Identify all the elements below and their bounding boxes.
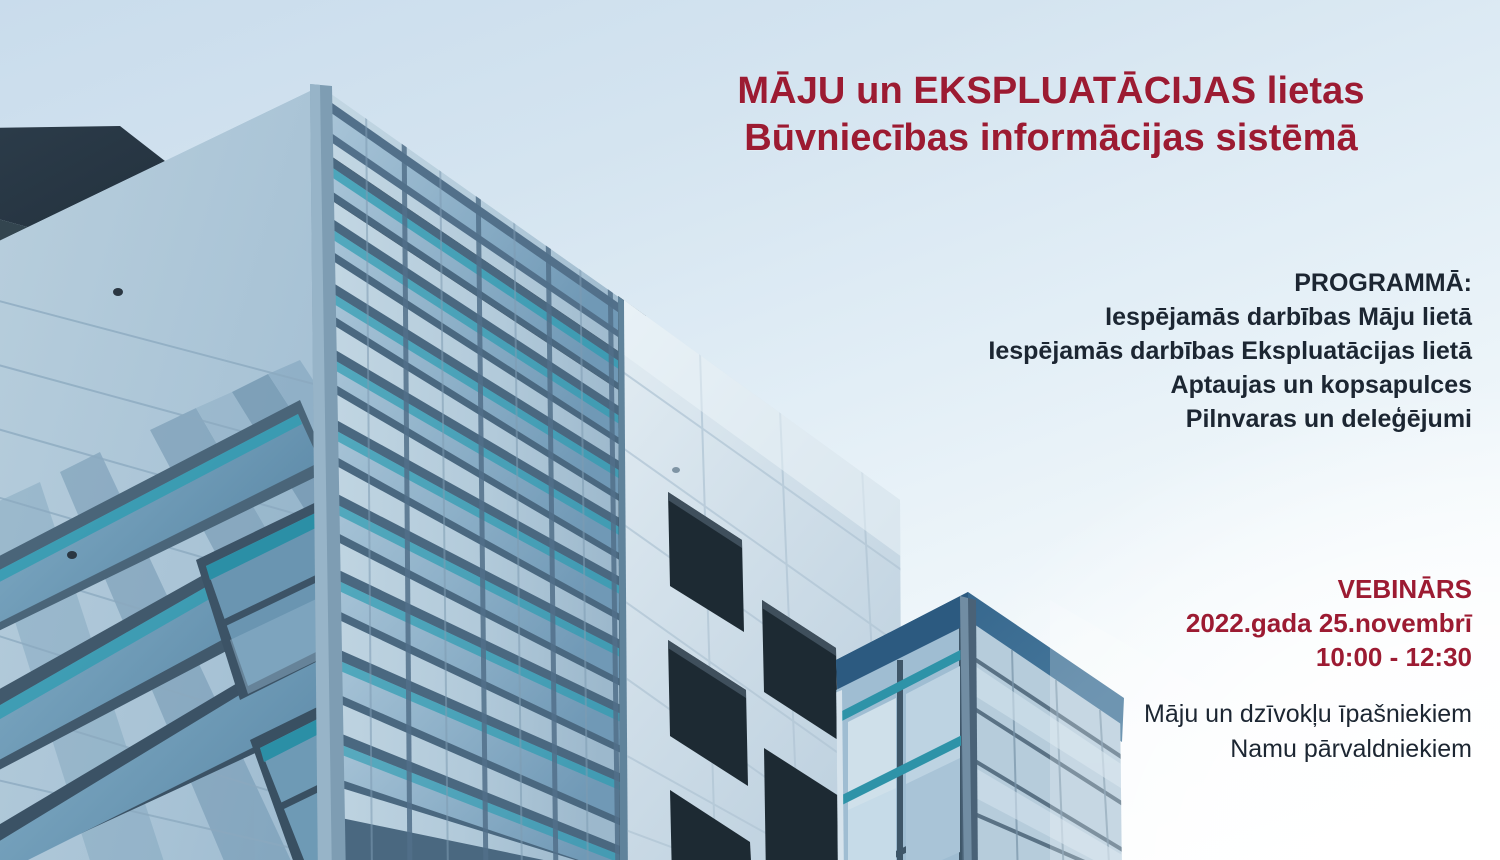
audience-line-1: Māju un dzīvokļu īpašniekiem <box>1144 697 1472 732</box>
title-line-2: Būvniecības informācijas sistēmā <box>620 115 1482 162</box>
program-heading: PROGRAMMĀ: <box>988 266 1472 300</box>
program-item-3: Aptaujas un kopsapulces <box>988 368 1472 402</box>
title-line-1: MĀJU un EKSPLUATĀCIJAS lietas <box>620 68 1482 115</box>
audience-line-2: Namu pārvaldniekiem <box>1144 732 1472 767</box>
event-type-label: VEBINĀRS <box>1186 572 1472 606</box>
event-date: 2022.gada 25.novembrī <box>1186 606 1472 640</box>
event-details: VEBINĀRS 2022.gada 25.novembrī 10:00 - 1… <box>1186 572 1472 674</box>
poster-title: MĀJU un EKSPLUATĀCIJAS lietas Būvniecība… <box>620 68 1482 162</box>
audience-section: Māju un dzīvokļu īpašniekiem Namu pārval… <box>1144 697 1472 767</box>
program-item-2: Iespējamās darbības Ekspluatācijas lietā <box>988 334 1472 368</box>
program-item-1: Iespējamās darbības Māju lietā <box>988 300 1472 334</box>
program-item-4: Pilnvaras un deleģējumi <box>988 402 1472 436</box>
text-overlay: MĀJU un EKSPLUATĀCIJAS lietas Būvniecība… <box>0 0 1500 860</box>
program-section: PROGRAMMĀ: Iespējamās darbības Māju liet… <box>988 266 1472 436</box>
event-time: 10:00 - 12:30 <box>1186 640 1472 674</box>
webinar-poster: MĀJU un EKSPLUATĀCIJAS lietas Būvniecība… <box>0 0 1500 860</box>
